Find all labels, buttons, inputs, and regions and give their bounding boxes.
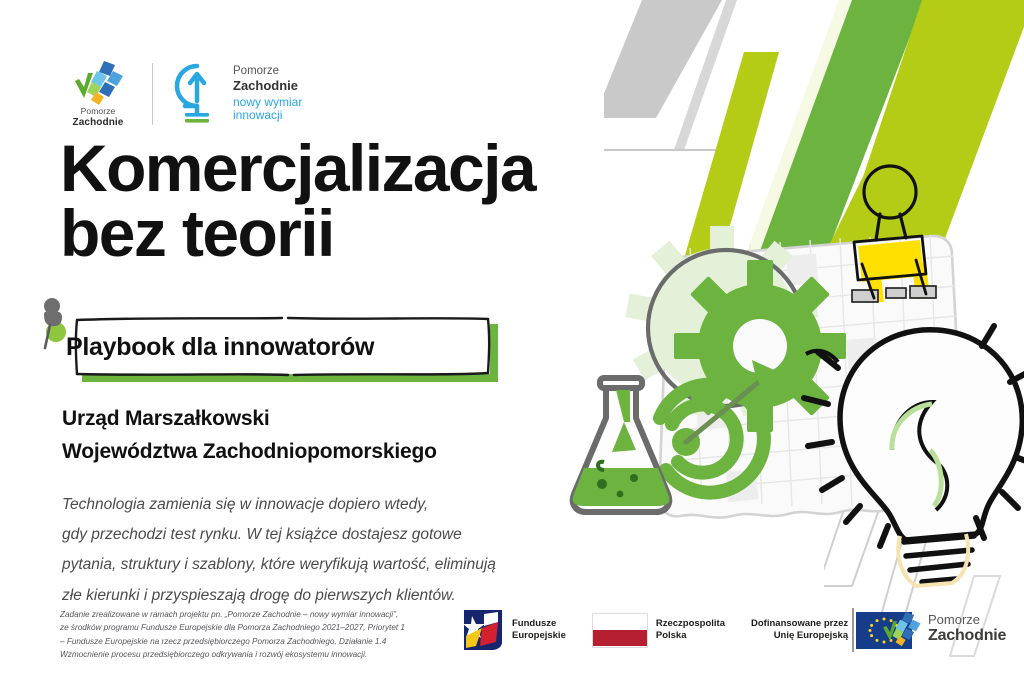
lime-stripe-3 [822, 0, 1024, 300]
footer-logo-group: Fundusze Europejskie Rzeczpospolita Pols… [462, 604, 938, 656]
page-title: Komercjalizacja bez teorii [60, 136, 535, 265]
cover-illustration [540, 150, 1024, 600]
nwi-line-1: Pomorze [233, 65, 302, 79]
brand-divider [152, 63, 153, 125]
poland-flag-icon [592, 613, 648, 648]
cover-page: Pomorze Zachodnie Pomorze Zachodnie nowy… [0, 0, 1024, 676]
nwi-line-2: Zachodnie [233, 78, 302, 94]
target-arrow-icon [660, 360, 774, 493]
footer-pomorze-mark-icon [880, 610, 922, 648]
lime-stripe-2 [802, 128, 934, 300]
green-stripe-1 [742, 0, 924, 300]
flask-icon [573, 378, 670, 512]
footer-logo-pomorze-zachodnie: Pomorze Zachodnie [880, 610, 1006, 648]
lime-stripe-1 [672, 52, 779, 300]
binder-clip-icon [852, 166, 936, 302]
pomorze-zachodnie-mark-icon [71, 59, 125, 107]
footer-disclaimer: Zadanie zrealizowane w ramach projektu p… [60, 608, 455, 661]
badge-label: Playbook dla innowatorów [66, 333, 374, 362]
gray-stripe-shape [604, 0, 722, 118]
logo-pomorze-word-bottom: Zachodnie [73, 117, 124, 129]
note-paper-icon [659, 235, 964, 518]
logo-rzeczpospolita-polska: Rzeczpospolita Polska [592, 613, 725, 648]
logo-ue-caption: Dofinansowane przez Unię Europejską [751, 618, 848, 643]
footer-divider [852, 608, 854, 652]
logo-pomorze-zachodnie: Pomorze Zachodnie [62, 59, 134, 128]
logo-fundusze-europejskie: Fundusze Europejskie [462, 608, 566, 652]
logo-pomorze-caption: Pomorze Zachodnie [73, 107, 124, 128]
logo-pomorze-word-top: Pomorze [81, 106, 116, 116]
logo-nowy-wymiar-innowacji: Pomorze Zachodnie nowy wymiar innowacji [171, 63, 302, 125]
logo-fundusze-caption: Fundusze Europejskie [512, 618, 566, 643]
logo-polska-caption: Rzeczpospolita Polska [656, 618, 725, 643]
footer-pomorze-word-bottom: Zachodnie [928, 627, 1006, 645]
lightbulb-arrow-icon [171, 63, 223, 125]
nwi-line-3: nowy wymiar [233, 95, 302, 109]
organization-name: Urząd Marszałkowski Województwa Zachodni… [62, 403, 437, 468]
nwi-line-4: innowacji [233, 108, 302, 122]
fundusze-europejskie-mark-icon [462, 608, 504, 652]
footer-pomorze-word-top: Pomorze [928, 613, 1006, 628]
lead-paragraph: Technologia zamienia się w innowacje dop… [62, 490, 552, 611]
decorative-stripes-top-right [604, 0, 1024, 300]
brand-bar: Pomorze Zachodnie Pomorze Zachodnie nowy… [62, 55, 302, 133]
lightbulb-icon [804, 326, 1024, 586]
gear-icon [625, 226, 846, 432]
